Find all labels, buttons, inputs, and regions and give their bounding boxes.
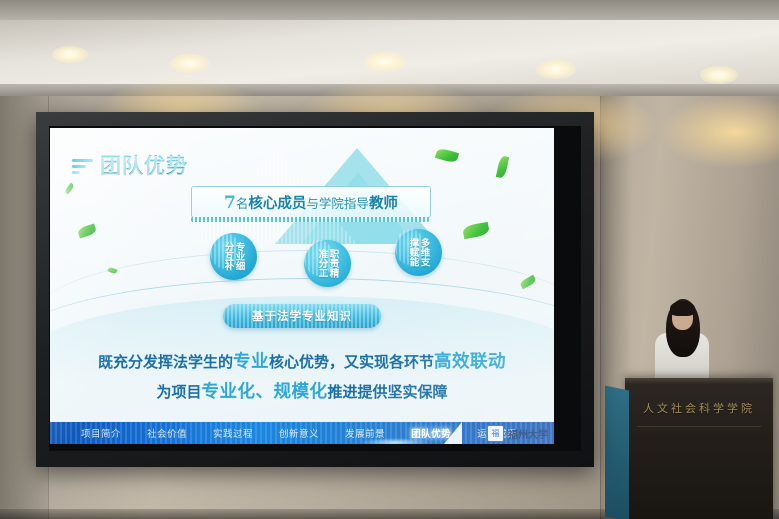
nav-item-project-intro[interactable]: 项目简介 [68, 426, 134, 440]
presenter [653, 297, 711, 383]
conclusion-line1-highlight-1: 专业 [233, 352, 269, 372]
presenter-hair-front [670, 301, 695, 316]
banner-underline [191, 217, 429, 222]
leaf-icon [64, 183, 75, 195]
university-logo-icon: 福 [487, 425, 504, 442]
podium-top [625, 378, 773, 385]
nav-item-practice-process[interactable]: 实践过程 [200, 426, 266, 440]
conclusion-line-2: 为项目专业化、规模化推进提供坚实保障 [50, 378, 554, 403]
leaf-icon [462, 222, 490, 239]
downlight-icon [170, 54, 210, 73]
page-title: 团队优势 [100, 150, 188, 180]
podium: 人文社会科学学院 [625, 378, 773, 519]
team-member-count: 7 [224, 193, 236, 213]
foundation-pill: 基于法学专业知识 [223, 304, 381, 328]
podium-divider [637, 426, 761, 427]
nav-wedge-decoration [444, 422, 462, 444]
leaf-icon [77, 223, 97, 238]
ceiling-beam [0, 0, 779, 20]
podium-label: 人文社会科学学院 [625, 400, 773, 416]
downlight-icon [536, 60, 576, 79]
banner-strong-1: 核心成员 [248, 196, 306, 212]
leaf-icon [496, 155, 509, 178]
conclusion-line2-part-a: 为项目 [156, 383, 201, 401]
ceiling [0, 0, 779, 96]
advantage-circle-2-label: 职责精准分工 [313, 246, 343, 282]
nav-item-innovation[interactable]: 创新意义 [266, 426, 332, 440]
presentation-slide[interactable]: 团队优势 7名核心成员与学院指导教师 专业细分互补 职责精准分工 多维支撑赋能 … [50, 128, 554, 444]
advantage-circle-2: 职责精准分工 [304, 240, 351, 287]
team-count-unit: 名 [236, 196, 249, 211]
downlight-icon [700, 66, 738, 84]
advantage-circle-3-label: 多维支撑赋能 [404, 235, 434, 271]
slide-title-group: 团队优势 [72, 150, 188, 180]
advantage-circle-3: 多维支撑赋能 [395, 229, 442, 276]
title-accent-icon [72, 156, 94, 174]
conclusion-line2-highlight-1: 专业化、规模化 [202, 382, 328, 402]
downlight-icon [364, 52, 406, 72]
advantage-circle-1-label: 专业细分互补 [219, 239, 249, 275]
conclusion-line2-part-b: 推进提供坚实保障 [328, 383, 448, 401]
conclusion-line1-part-b: 核心优势，又实现各环节 [269, 353, 434, 371]
nav-item-social-value[interactable]: 社会价值 [134, 426, 200, 440]
slide-navigation-bar[interactable]: 项目简介 社会价值 实践过程 创新意义 发展前景 团队优势 运营成果 福 福州大… [50, 422, 554, 444]
conclusion-line1-highlight-2: 高效联动 [434, 352, 506, 372]
conclusion-line-1: 既充分发挥法学生的专业核心优势，又实现各环节高效联动 [50, 348, 554, 373]
foundation-pill-label: 基于法学专业知识 [252, 308, 352, 324]
team-size-banner-text: 7名核心成员与学院指导教师 [224, 192, 398, 213]
conclusion-line1-part-a: 既充分发挥法学生的 [98, 353, 233, 371]
banner-strong-2: 教师 [369, 196, 398, 212]
advantage-circle-1: 专业细分互补 [210, 233, 257, 280]
university-logo-text: 福州大学 [508, 426, 548, 441]
conference-room-scene: FUZHOU UNIVERSITY 福 人文社会科学学院 [0, 0, 779, 519]
downlight-icon [52, 46, 88, 63]
banner-plain-2: 指导 [344, 196, 369, 211]
university-logo-group: 福 福州大学 [487, 425, 548, 442]
team-size-banner: 7名核心成员与学院指导教师 [191, 186, 431, 218]
banner-plain-1: 与学院 [306, 196, 344, 211]
nav-active-glow [360, 438, 430, 444]
